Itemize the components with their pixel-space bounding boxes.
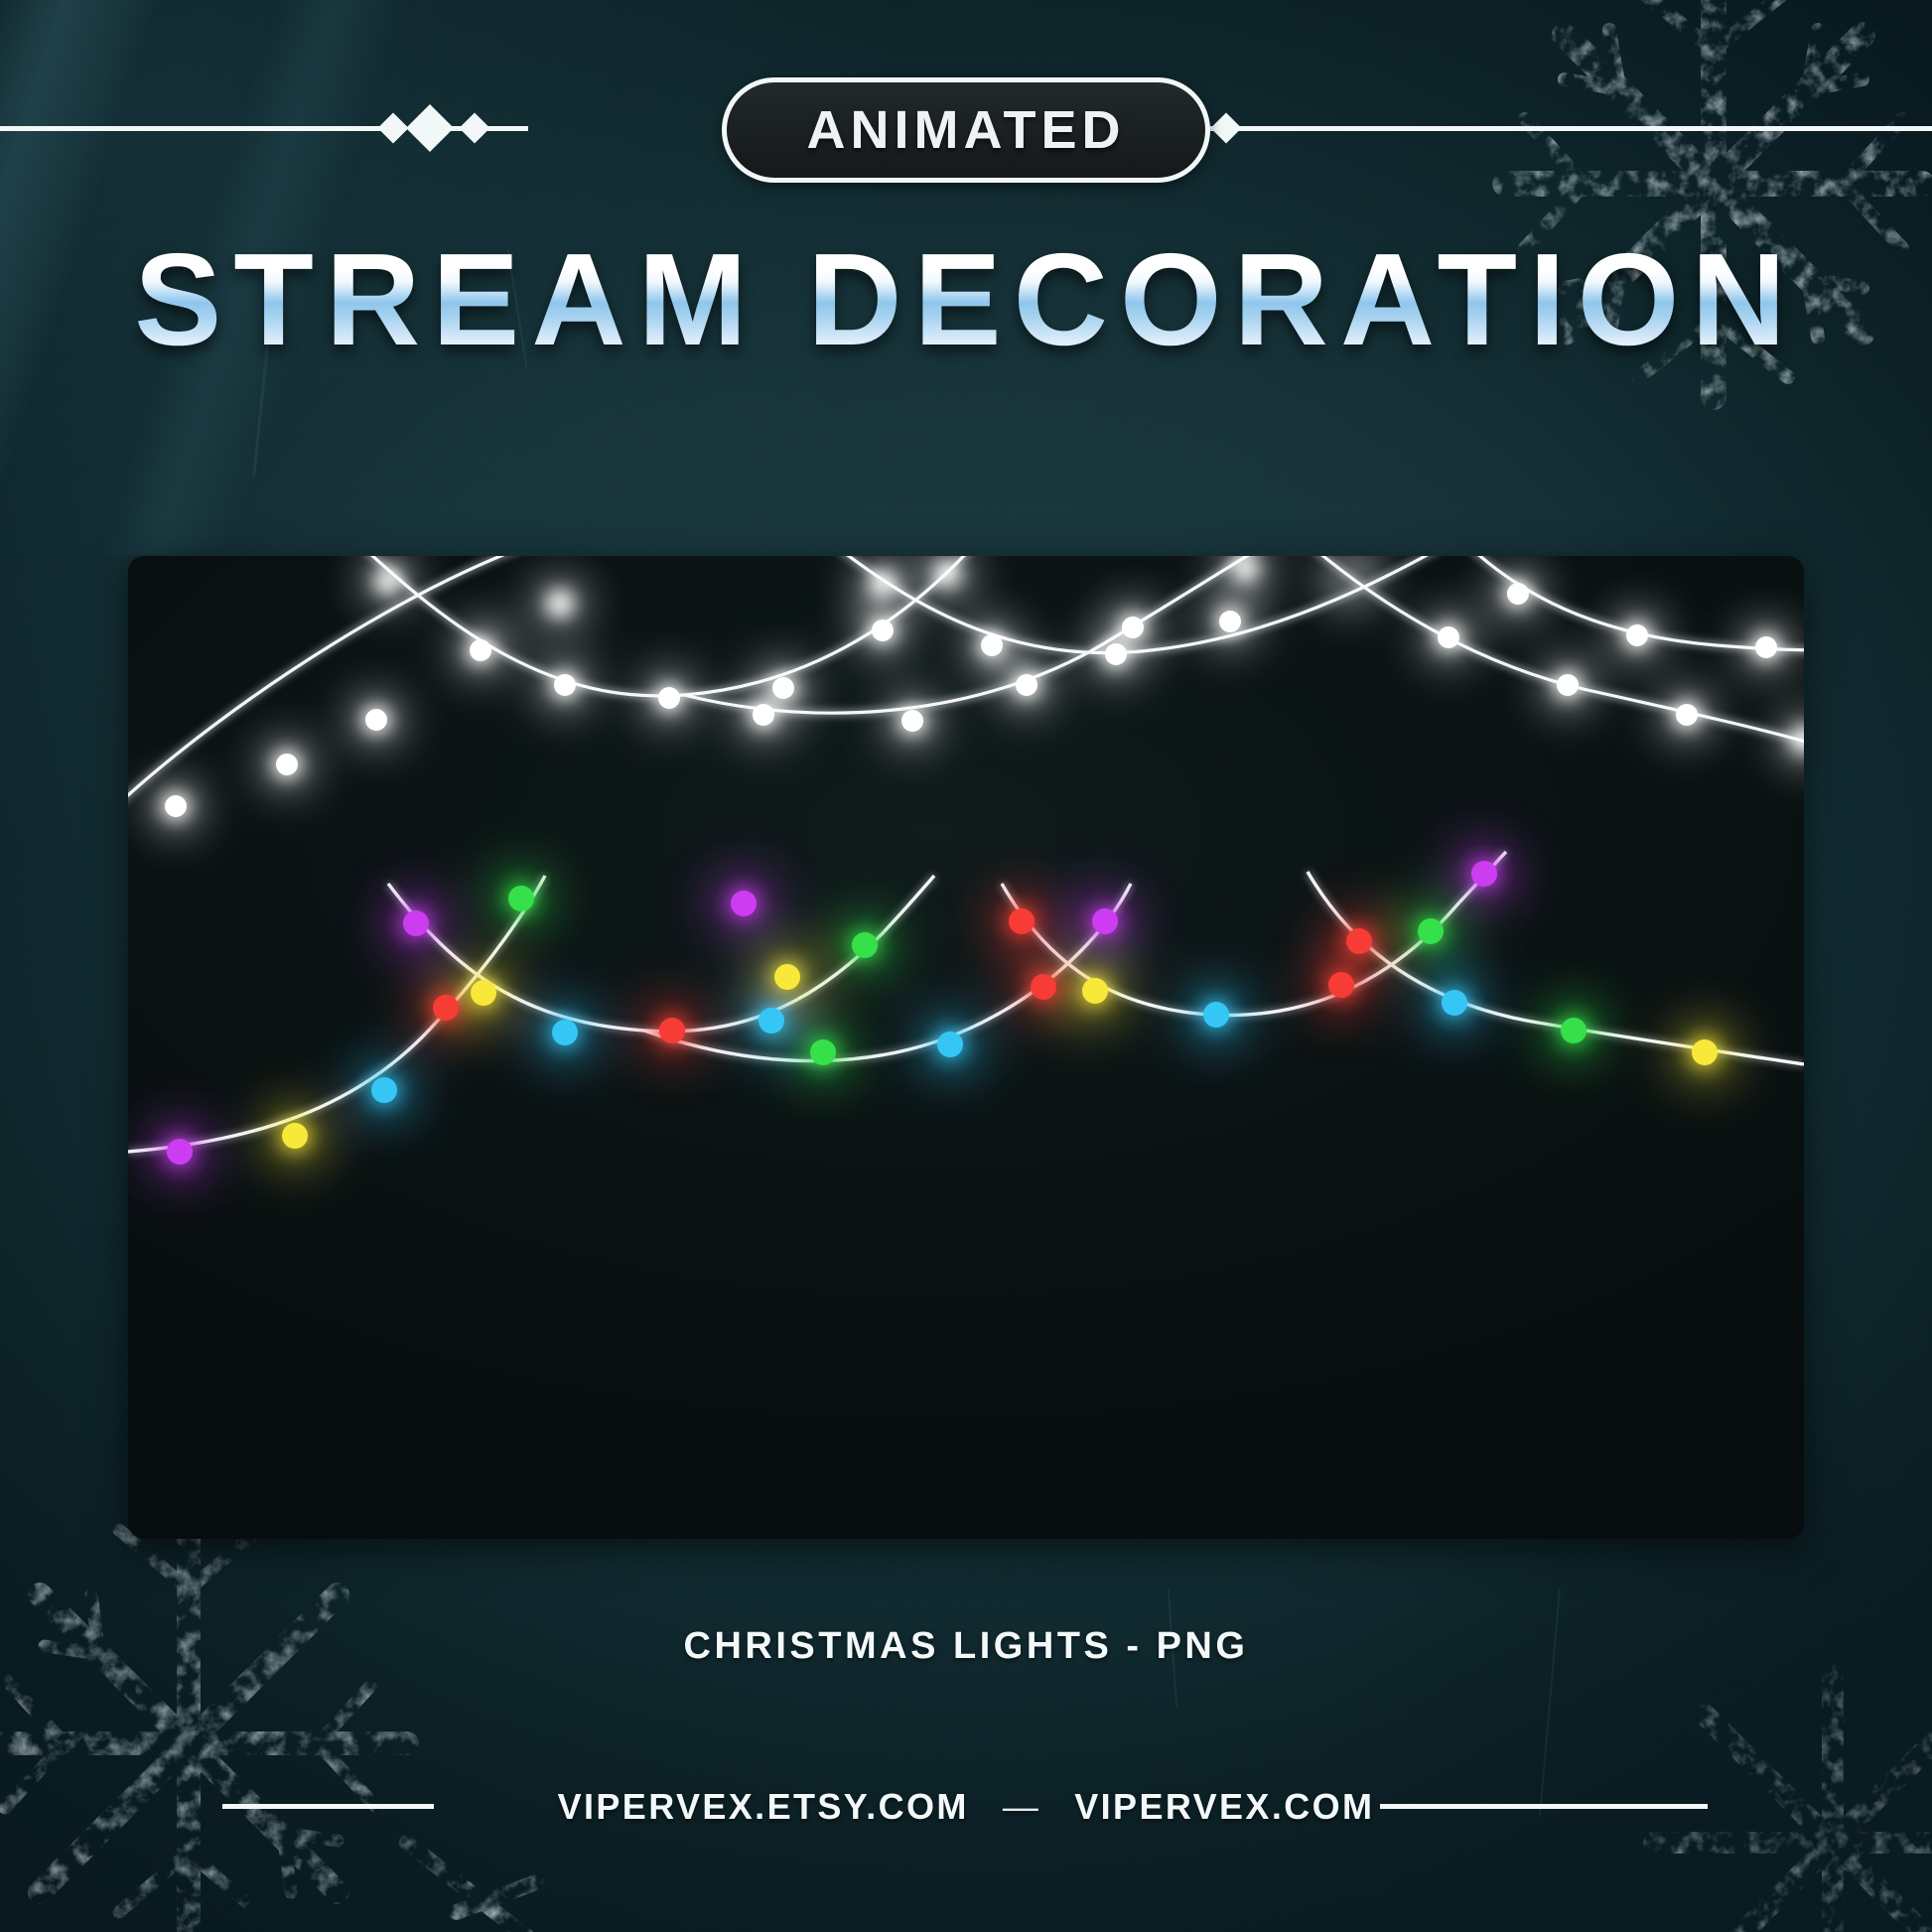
footer-link-site[interactable]: VIPERVEX.COM (1074, 1786, 1374, 1828)
footer-bar: VIPERVEX.ETSY.COM — VIPERVEX.COM (0, 1777, 1932, 1837)
white-light-strand-group (128, 556, 1804, 832)
colored-light-strand-group (128, 846, 1804, 1179)
footer-separator: — (1003, 1786, 1040, 1828)
divider-line-left (0, 126, 392, 131)
divider-diamond-small-1 (377, 112, 408, 143)
christmas-lights-artwork (128, 556, 1804, 1539)
preview-panel[interactable] (128, 556, 1804, 1539)
divider-diamond-large-1 (406, 104, 454, 152)
page-title: STREAM DECORATION (0, 224, 1932, 375)
divider-line-right (1195, 126, 1932, 131)
preview-caption: CHRISTMAS LIGHTS - PNG (0, 1625, 1932, 1668)
footer-link-etsy[interactable]: VIPERVEX.ETSY.COM (558, 1786, 969, 1828)
animated-badge: ANIMATED (722, 77, 1210, 183)
animated-badge-label: ANIMATED (807, 99, 1126, 161)
footer-links: VIPERVEX.ETSY.COM — VIPERVEX.COM (0, 1777, 1932, 1837)
divider-line-left-stub (449, 126, 528, 131)
